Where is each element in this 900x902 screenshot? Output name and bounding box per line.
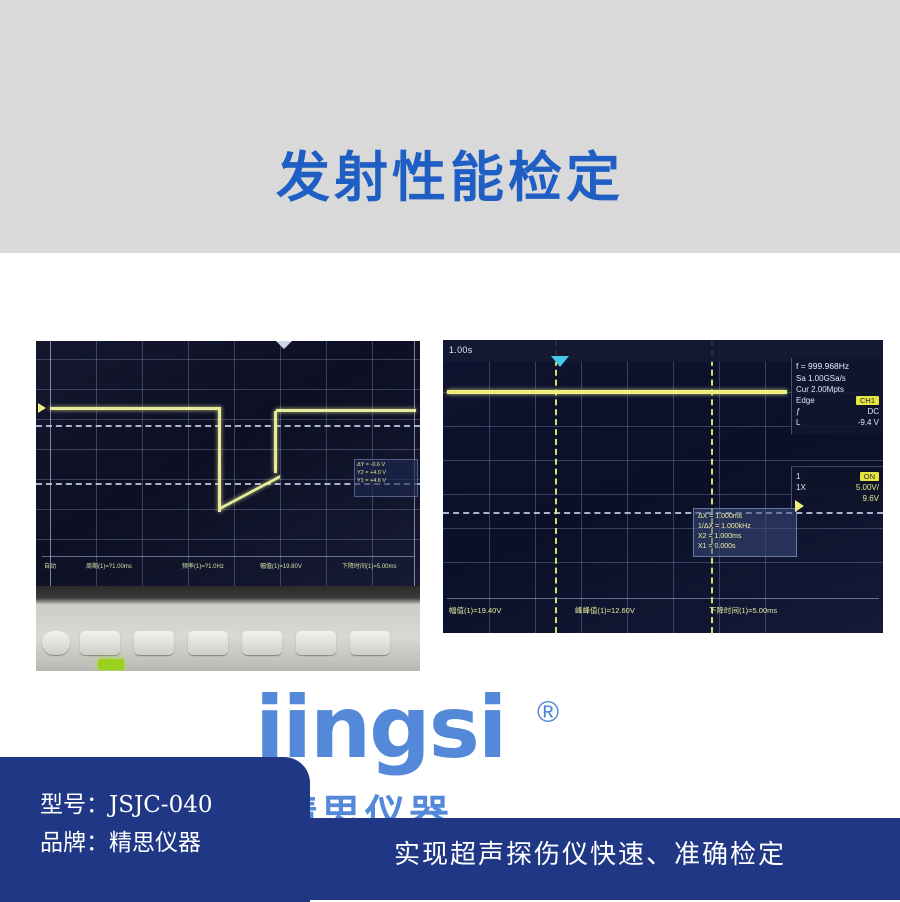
- grid-line: [489, 340, 490, 633]
- channel-number: 1: [796, 472, 800, 481]
- cursor-line-x2: [711, 340, 713, 633]
- trigger-level-label: L: [796, 418, 800, 427]
- measure-y1: Y1 = +4.6 V: [357, 478, 415, 484]
- trigger-slope-icon: ƒ: [796, 407, 800, 416]
- trigger-position-marker-icon: [276, 341, 292, 349]
- cursor-line-horizontal: [36, 425, 420, 427]
- cursor-x2: X2 = 1.000ms: [698, 532, 792, 542]
- grid-line: [50, 341, 51, 586]
- probe-ratio: 1X: [796, 483, 806, 492]
- grid-line: [443, 528, 883, 529]
- grid-line: [142, 341, 143, 586]
- channel-offset: 9.6V: [863, 494, 879, 503]
- status-falltime: 下降时间(1)=5.00ms: [342, 561, 397, 570]
- volts-per-div: 5.00V/: [856, 483, 879, 492]
- waveform-trace: [274, 411, 277, 473]
- trigger-position-marker-icon: [551, 356, 569, 367]
- model-line: 型号：JSJC-040: [40, 785, 212, 819]
- trigger-level-value: -9.4 V: [858, 418, 879, 427]
- cursor-line-x1: [555, 340, 557, 633]
- left-scope-screen: ΔY = -0.6 V Y2 = +4.0 V Y1 = +4.6 V 自动 周…: [36, 341, 420, 586]
- trigger-mode-label: Edge: [796, 396, 815, 405]
- coupling-value: DC: [867, 407, 879, 416]
- oscilloscope-photo-right: 1.00s f = 999.968Hz Sa 1.00GSa/s Cur 2.0…: [443, 340, 883, 633]
- grid-line: [188, 341, 189, 586]
- waveform-trace: [447, 390, 787, 394]
- footer-tagline: 实现超声探伤仪快速、准确检定: [310, 834, 870, 871]
- channel-state-badge[interactable]: ON: [860, 472, 879, 481]
- sample-rate-readout: Sa 1.00GSa/s: [796, 374, 846, 383]
- status-amplitude: 幅值(1)=19.40V: [449, 605, 501, 616]
- photo-strip: ΔY = -0.6 V Y2 = +4.0 V Y1 = +4.6 V 自动 周…: [0, 253, 900, 738]
- scope-button[interactable]: [80, 631, 120, 655]
- scope-button[interactable]: [134, 631, 174, 655]
- waveform-trace: [50, 407, 220, 410]
- grid-line: [280, 341, 281, 586]
- channel-ground-marker-icon: [38, 403, 46, 413]
- scope-button[interactable]: [188, 631, 228, 655]
- measure-y2: Y2 = +4.0 V: [357, 470, 415, 476]
- cursor-line-horizontal: [443, 512, 883, 514]
- cursor-x1: X1 = 0.000s: [698, 542, 792, 552]
- status-peak-to-peak: 峰峰值(1)=12.60V: [575, 605, 635, 616]
- memory-depth-readout: Cur 2.00Mpts: [796, 385, 844, 394]
- waveform-trace: [220, 475, 280, 510]
- poster-root: 发射性能检定: [0, 0, 900, 900]
- page-title: 发射性能检定: [0, 133, 900, 212]
- frequency-readout: f = 999.968Hz: [796, 361, 879, 371]
- grid-line: [36, 419, 420, 420]
- status-period: 周期(1)=?1.00ms: [86, 561, 132, 570]
- grid-line: [96, 341, 97, 586]
- grid-line: [36, 359, 420, 360]
- left-scope-measurement-box: ΔY = -0.6 V Y2 = +4.0 V Y1 = +4.6 V: [354, 459, 418, 497]
- cursor-measurement-box: ΔX = 1.000ms 1/ΔX = 1.000kHz X2 = 1.000m…: [693, 508, 797, 557]
- scope-front-bezel: [36, 586, 420, 671]
- grid-line: [443, 460, 883, 461]
- grid-line: [443, 562, 883, 563]
- grid-line: [36, 389, 420, 390]
- trigger-source-badge[interactable]: CH1: [856, 396, 879, 405]
- grid-line: [673, 340, 674, 633]
- cursor-delta-x: ΔX = 1.000ms: [698, 512, 792, 522]
- grid-line: [581, 340, 582, 633]
- right-scope-status-bar: 幅值(1)=19.40V 峰峰值(1)=12.60V 下降时间(1)=5.00m…: [447, 598, 879, 623]
- scope-button[interactable]: [350, 631, 390, 655]
- scope-button[interactable]: [42, 631, 70, 655]
- scope-button-row: [42, 631, 414, 657]
- status-auto: 自动: [44, 561, 56, 570]
- registered-trademark-icon: ®: [537, 696, 559, 730]
- status-falltime: 下降时间(1)=5.00ms: [709, 605, 777, 616]
- timebase-readout: 1.00s: [449, 345, 473, 355]
- grid-line: [719, 340, 720, 633]
- grid-line: [326, 341, 327, 586]
- grid-line: [36, 509, 420, 510]
- right-scope-screen: 1.00s f = 999.968Hz Sa 1.00GSa/s Cur 2.0…: [443, 340, 883, 633]
- status-amplitude: 幅值(1)=19.80V: [260, 561, 302, 570]
- status-frequency: 频率(1)=?1.0Hz: [182, 561, 224, 570]
- grid-line: [627, 340, 628, 633]
- oscilloscope-photo-left: ΔY = -0.6 V Y2 = +4.0 V Y1 = +4.6 V 自动 周…: [36, 341, 420, 671]
- waveform-trace: [218, 407, 221, 512]
- header-banner: 发射性能检定: [0, 0, 900, 253]
- grid-line: [36, 449, 420, 450]
- brand-line: 品牌：精思仪器: [40, 823, 201, 857]
- waveform-trace: [276, 409, 416, 412]
- scope-button[interactable]: [296, 631, 336, 655]
- cursor-handle-icon[interactable]: [795, 500, 804, 512]
- right-scope-info-panel: f = 999.968Hz Sa 1.00GSa/s Cur 2.00Mpts …: [791, 358, 883, 434]
- left-scope-status-bar: 自动 周期(1)=?1.00ms 频率(1)=?1.0Hz 幅值(1)=19.8…: [42, 556, 414, 579]
- cursor-inv-delta-x: 1/ΔX = 1.000kHz: [698, 522, 792, 532]
- channel-settings-panel: 1 ON 1X 5.00V/ 9.6V: [791, 466, 883, 508]
- measure-delta-y: ΔY = -0.6 V: [357, 462, 415, 468]
- grid-line: [36, 539, 420, 540]
- grid-line: [535, 340, 536, 633]
- scope-button[interactable]: [242, 631, 282, 655]
- grid-line: [234, 341, 235, 586]
- grid-line: [765, 340, 766, 633]
- power-led-indicator: [98, 659, 124, 670]
